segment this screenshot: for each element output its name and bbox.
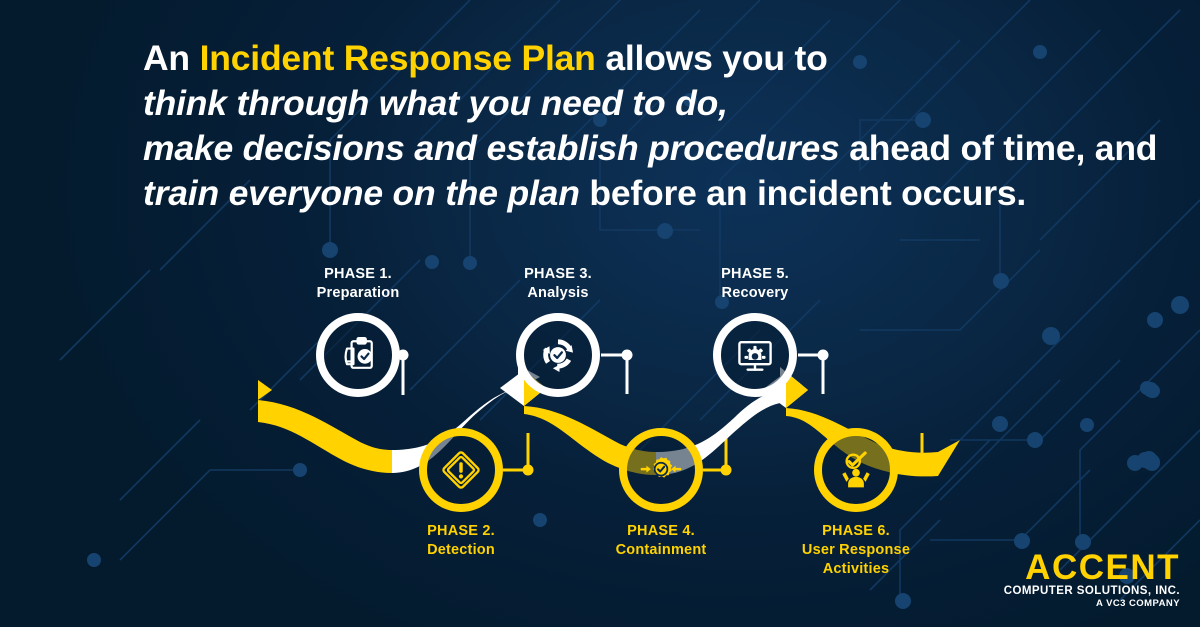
person-check-icon [834, 448, 878, 492]
logo-brand-name: ACCENT [1004, 551, 1180, 585]
phase-6-caption: PHASE 6. User Response Activities [757, 522, 955, 579]
phase-4-number: PHASE 4. [567, 522, 755, 541]
phase-3-ring[interactable] [516, 313, 600, 397]
phase-4-ring[interactable] [619, 428, 703, 512]
company-logo[interactable]: ACCENT COMPUTER SOLUTIONS, INC. A VC3 CO… [1004, 551, 1180, 610]
phase-3-caption: PHASE 3. Analysis [469, 265, 647, 303]
clipboard-check-icon [336, 333, 380, 377]
logo-parent-company: A VC3 COMPANY [1004, 598, 1180, 610]
phase-1-number: PHASE 1. [269, 265, 447, 284]
gear-arrows-icon [638, 447, 684, 493]
phase-2-caption: PHASE 2. Detection [372, 522, 550, 560]
phase-2-ring[interactable] [419, 428, 503, 512]
infographic-canvas: An Incident Response Plan allows you to … [0, 0, 1200, 627]
phase-6-ring[interactable] [814, 428, 898, 512]
phase-2-name: Detection [372, 541, 550, 560]
phase-3-number: PHASE 3. [469, 265, 647, 284]
phase-5-caption: PHASE 5. Recovery [666, 265, 844, 303]
phase-4-name: Containment [567, 541, 755, 560]
phase-5-ring[interactable] [713, 313, 797, 397]
phase-3-name: Analysis [469, 284, 647, 303]
phase-6-name-line1: User Response [757, 541, 955, 560]
phase-5-name: Recovery [666, 284, 844, 303]
phase-1-name: Preparation [269, 284, 447, 303]
logo-tagline: COMPUTER SOLUTIONS, INC. [1004, 585, 1180, 598]
phase-6-name-line2: Activities [757, 560, 955, 579]
phase-1-caption: PHASE 1. Preparation [269, 265, 447, 303]
phase-1-ring[interactable] [316, 313, 400, 397]
phase-6-number: PHASE 6. [757, 522, 955, 541]
phase-2-number: PHASE 2. [372, 522, 550, 541]
phase-4-caption: PHASE 4. Containment [567, 522, 755, 560]
refresh-check-icon [536, 333, 580, 377]
warning-diamond-icon [439, 448, 483, 492]
phase-5-number: PHASE 5. [666, 265, 844, 284]
monitor-gear-icon [733, 333, 777, 377]
process-flow-ribbon [0, 330, 1200, 510]
